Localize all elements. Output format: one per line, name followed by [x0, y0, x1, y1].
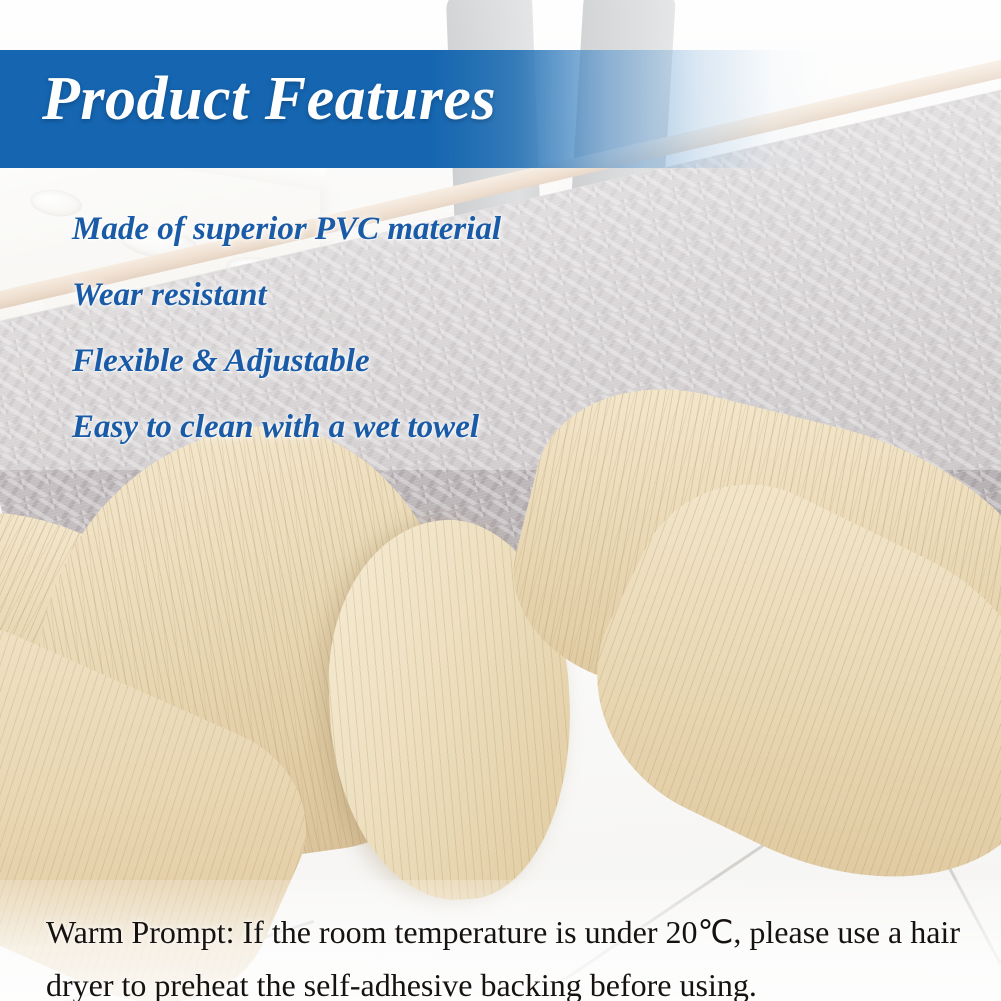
feature-list: Made of superior PVC material Wear resis… — [72, 196, 712, 460]
warm-prompt: Warm Prompt: If the room temperature is … — [46, 906, 966, 1001]
feature-item-4: Easy to clean with a wet towel — [72, 394, 712, 460]
pvc-strip-product — [0, 400, 1001, 960]
feature-item-3: Flexible & Adjustable — [72, 328, 712, 394]
feature-item-2: Wear resistant — [72, 262, 712, 328]
page-title: Product Features — [42, 68, 496, 130]
warm-prompt-line-2: dryer to preheat the self-adhesive backi… — [46, 959, 966, 1001]
feature-item-1: Made of superior PVC material — [72, 196, 712, 262]
product-feature-image: Product Features Made of superior PVC ma… — [0, 0, 1001, 1001]
warm-prompt-line-1: Warm Prompt: If the room temperature is … — [46, 906, 966, 959]
